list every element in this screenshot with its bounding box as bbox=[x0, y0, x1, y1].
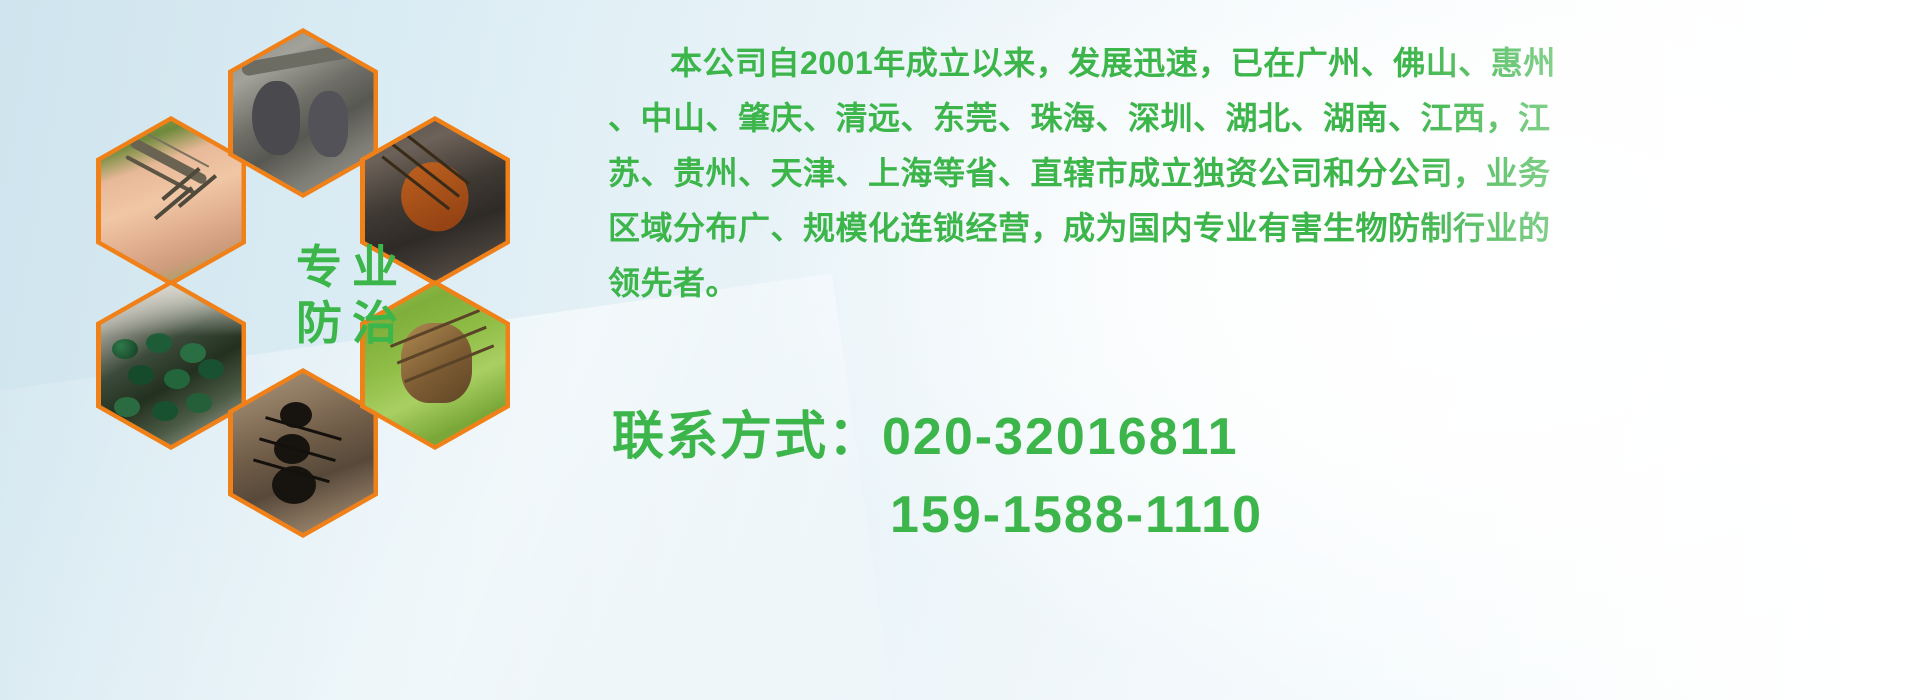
honeycomb-cell-inner bbox=[365, 285, 506, 445]
honeycomb-gallery: 专业 防治 bbox=[96, 8, 596, 568]
contact-block: 联系方式：020-32016811 159-1588-1110 bbox=[612, 398, 1912, 554]
contact-primary-row: 联系方式：020-32016811 bbox=[612, 398, 1912, 476]
honeycomb-cell-inner bbox=[233, 373, 374, 533]
contact-label: 联系方式： bbox=[612, 408, 882, 466]
honeycomb-cell-rats[interactable] bbox=[228, 28, 378, 198]
description-line: 苏、贵州、天津、上海等省、直辖市成立独资公司和分公司，业务 bbox=[608, 146, 1908, 201]
rats-photo bbox=[233, 33, 374, 193]
honeycomb-cell-inner bbox=[233, 33, 374, 193]
honeycomb-cell-inner bbox=[101, 121, 242, 281]
contact-phone-primary[interactable]: 020-32016811 bbox=[882, 408, 1239, 466]
promo-banner: 专业 防治 本公司自2001年成立以来，发展迅速，已在广州、佛山、惠州 、中山、… bbox=[0, 0, 1920, 700]
contact-secondary-row: 159-1588-1110 bbox=[612, 476, 1912, 554]
honeycomb-cell-stink-bug[interactable] bbox=[360, 280, 510, 450]
description-line: 、中山、肇庆、清远、东莞、珠海、深圳、湖北、湖南、江西，江 bbox=[608, 91, 1908, 146]
mosquito-photo bbox=[101, 121, 242, 281]
flies-photo bbox=[101, 285, 242, 445]
honeycomb-cell-mosquito[interactable] bbox=[96, 116, 246, 286]
contact-phone-secondary[interactable]: 159-1588-1110 bbox=[890, 486, 1263, 544]
description-line: 本公司自2001年成立以来，发展迅速，已在广州、佛山、惠州 bbox=[608, 36, 1908, 91]
description-line: 领先者。 bbox=[608, 256, 1908, 311]
honeycomb-cell-inner bbox=[101, 285, 242, 445]
honeycomb-cell-ant[interactable] bbox=[228, 368, 378, 538]
honeycomb-cell-flies[interactable] bbox=[96, 280, 246, 450]
cockroach-photo bbox=[365, 121, 506, 281]
honeycomb-cell-inner bbox=[365, 121, 506, 281]
description-line: 区域分布广、规模化连锁经营，成为国内专业有害生物防制行业的 bbox=[608, 201, 1908, 256]
ant-photo bbox=[233, 373, 374, 533]
stink-bug-photo bbox=[365, 285, 506, 445]
company-description: 本公司自2001年成立以来，发展迅速，已在广州、佛山、惠州 、中山、肇庆、清远、… bbox=[608, 36, 1908, 311]
honeycomb-cell-cockroach[interactable] bbox=[360, 116, 510, 286]
